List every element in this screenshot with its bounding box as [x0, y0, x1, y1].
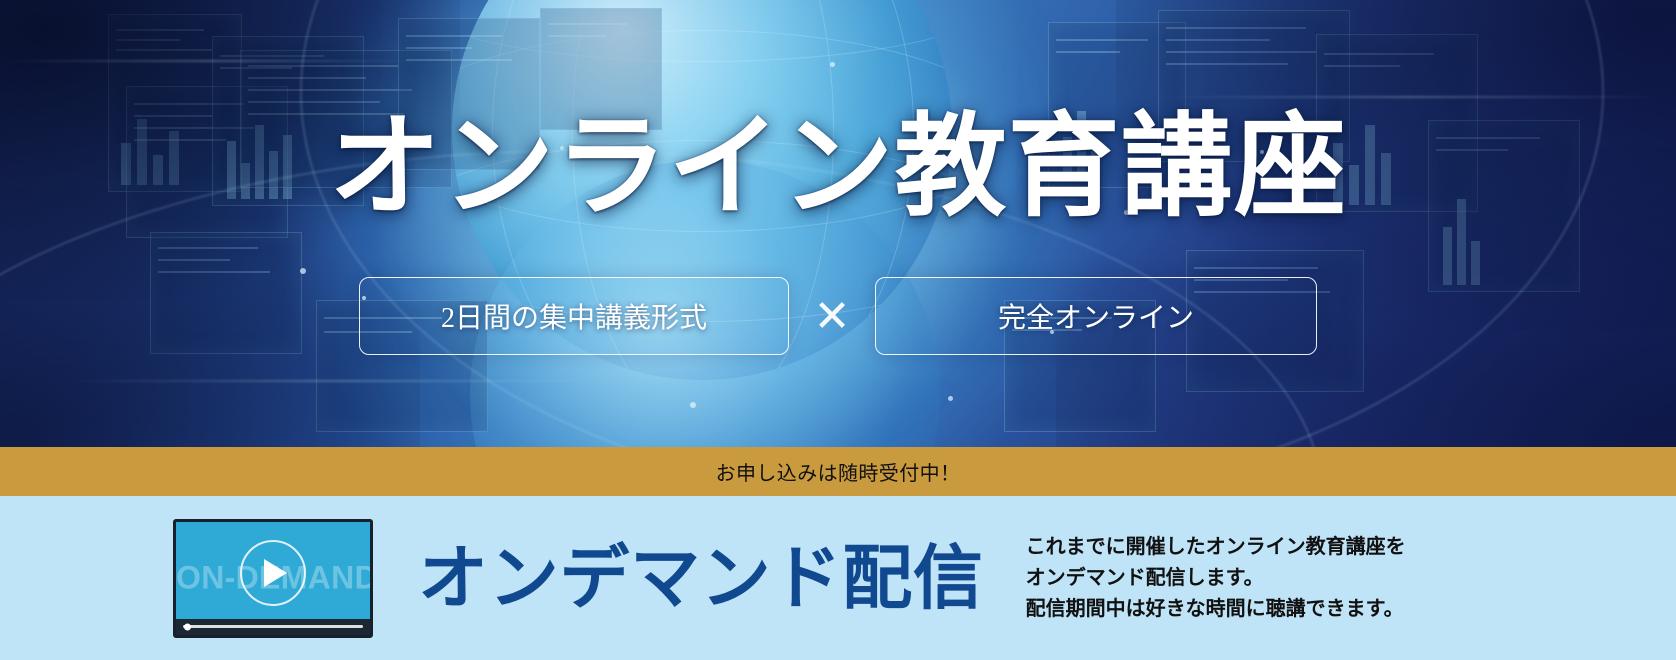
ondemand-title: オンデマンド配信 — [418, 543, 984, 613]
page-title: オンライン教育講座 — [0, 108, 1676, 229]
play-button[interactable] — [240, 540, 306, 606]
ondemand-section: ON-DEMAND オンデマンド配信 これまでに開催したオンライン教育講座を オ… — [0, 496, 1676, 660]
announcement-band: お申し込みは随時受付中！ — [0, 447, 1676, 496]
feature-badge-format-label: 2日間の集中講義形式 — [441, 296, 707, 336]
video-progress-knob[interactable] — [184, 623, 191, 630]
decor-dot — [830, 62, 835, 67]
feature-badge-row: 2日間の集中講義形式 ✕ 完全オンライン — [0, 277, 1676, 355]
decor-dot — [948, 396, 953, 401]
video-progress-bar[interactable] — [176, 619, 370, 635]
ondemand-description: これまでに開催したオンライン教育講座を オンデマンド配信します。 配信期間中は好… — [1026, 532, 1406, 625]
video-progress-track[interactable] — [183, 625, 363, 628]
ondemand-description-line: オンデマンド配信します。 — [1026, 563, 1406, 594]
ondemand-description-line: これまでに開催したオンライン教育講座を — [1026, 532, 1406, 563]
ondemand-content: ON-DEMAND オンデマンド配信 これまでに開催したオンライン教育講座を オ… — [0, 519, 1406, 638]
hero-banner: オンライン教育講座 2日間の集中講義形式 ✕ 完全オンライン — [0, 0, 1676, 447]
play-triangle-icon — [264, 559, 287, 587]
decor-streak — [60, 380, 620, 382]
multiply-icon: ✕ — [789, 278, 875, 354]
decor-dot — [690, 402, 696, 408]
landing-banner-page: オンライン教育講座 2日間の集中講義形式 ✕ 完全オンライン お申し込みは随時受… — [0, 0, 1676, 660]
feature-badge-online: 完全オンライン — [875, 277, 1317, 355]
ondemand-video-thumbnail[interactable]: ON-DEMAND — [173, 519, 373, 638]
decor-dot — [300, 268, 306, 274]
announcement-text: お申し込みは随時受付中！ — [716, 457, 961, 486]
decor-streak — [1150, 96, 1670, 98]
decor-streak — [0, 60, 420, 62]
feature-badge-format: 2日間の集中講義形式 — [359, 277, 789, 355]
feature-badge-online-label: 完全オンライン — [998, 296, 1194, 336]
ondemand-description-line: 配信期間中は好きな時間に聴講できます。 — [1026, 594, 1406, 625]
